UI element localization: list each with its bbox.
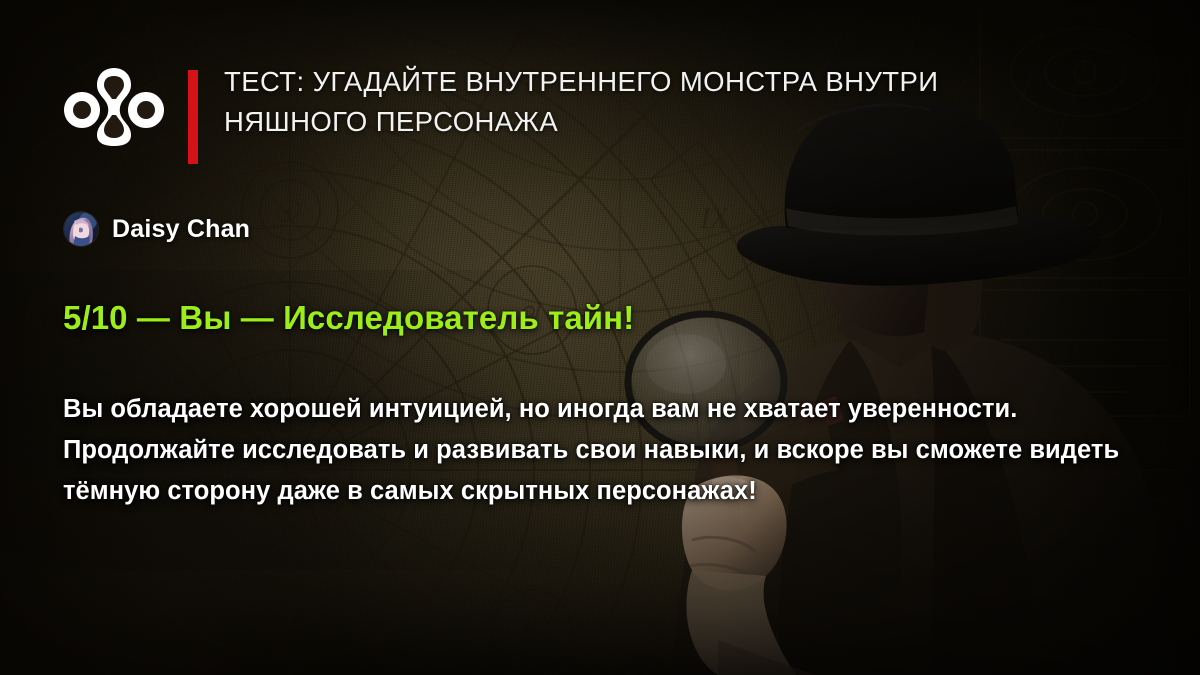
accent-bar — [188, 70, 198, 164]
double-loop-logo-icon[interactable] — [64, 66, 164, 148]
result-headline: 5/10 — Вы — Исследователь тайн! — [63, 299, 634, 337]
quiz-result-card: III VI XII IX II X IV ☉ ♆ ♃ ♄ ♅ — [0, 0, 1200, 675]
author-name: Daisy Chan — [112, 215, 250, 244]
result-description: Вы обладаете хорошей интуицией, но иногд… — [63, 389, 1148, 512]
header: ТЕСТ: УГАДАЙТЕ ВНУТРЕННЕГО МОНСТРА ВНУТР… — [64, 62, 1024, 164]
author-byline[interactable]: Daisy Chan — [64, 212, 250, 246]
avatar[interactable] — [64, 212, 98, 246]
page-title: ТЕСТ: УГАДАЙТЕ ВНУТРЕННЕГО МОНСТРА ВНУТР… — [224, 62, 1024, 142]
content-layer: ТЕСТ: УГАДАЙТЕ ВНУТРЕННЕГО МОНСТРА ВНУТР… — [0, 0, 1200, 675]
